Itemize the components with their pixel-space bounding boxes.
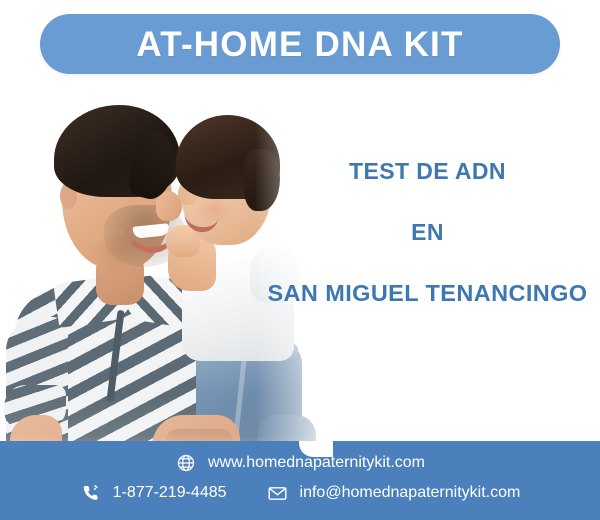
headline-line-preposition: EN [255,221,600,244]
website-text[interactable]: www.homednapaternitykit.com [208,455,425,471]
page-title: AT-HOME DNA KIT [136,27,463,62]
globe-icon [175,452,197,474]
envelope-icon [267,482,289,504]
phone-ringing-icon [80,482,102,504]
header-pill: AT-HOME DNA KIT [40,14,560,74]
headline-line-location: SAN MIGUEL TENANCINGO [255,282,600,306]
headline-line-service: TEST DE ADN [255,160,600,183]
phone-number-text[interactable]: 1-877-219-4485 [113,485,227,501]
footer-phone-email-row: 1-877-219-4485 info@homednapaternitykit.… [0,482,600,504]
dna-kit-promo-banner: AT-HOME DNA KIT [0,0,600,520]
email-text[interactable]: info@homednapaternitykit.com [300,485,521,501]
headline-block: TEST DE ADN EN SAN MIGUEL TENANCINGO [255,160,600,306]
footer-website-row: www.homednapaternitykit.com [0,452,600,474]
